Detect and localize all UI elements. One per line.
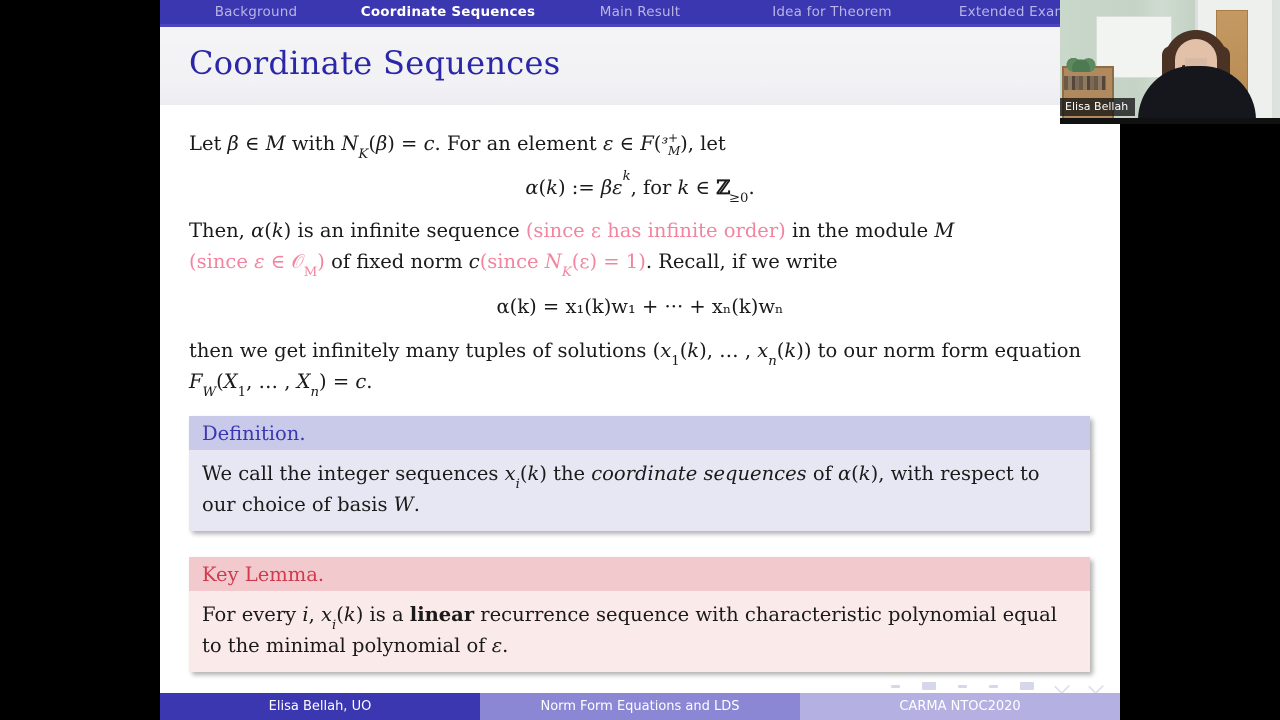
math-x-n: x — [757, 339, 768, 362]
math-W: W — [394, 493, 414, 516]
forward-arrow-glyph[interactable] — [1088, 678, 1104, 694]
p3-t8: ) = — [319, 370, 355, 393]
math-x-1: x — [660, 339, 671, 362]
math-beta-2: β — [376, 132, 387, 155]
math-X-n: X — [297, 370, 311, 393]
math-geq-zero: ≥0 — [729, 191, 749, 206]
math-F-2: F — [189, 370, 203, 393]
key-lemma-block: Key Lemma. For every i, xi(k) is a linea… — [189, 557, 1090, 672]
math-sub-n2: n — [310, 385, 319, 400]
presentation-slide: Background Coordinate Sequences Main Res… — [160, 0, 1120, 720]
math-k-3: k — [272, 219, 284, 242]
lem-t4: ) is a — [356, 603, 410, 626]
eq1-p5: . — [748, 176, 754, 199]
math-k-2: k — [678, 176, 690, 199]
nav-tab-main-result[interactable]: Main Result — [544, 4, 736, 20]
math-c: c — [424, 132, 435, 155]
footer-venue: CARMA NTOC2020 — [800, 693, 1120, 720]
text-eq-c: ) = — [387, 132, 423, 155]
next-section-glyph[interactable] — [989, 685, 998, 688]
paragraph-tuples: then we get infinitely many tuples of so… — [160, 335, 1120, 397]
math-K-sub-2: K — [562, 265, 572, 280]
math-epsilon-4: ε — [492, 634, 502, 657]
eq1-p4: ∈ — [689, 176, 716, 199]
slide-footer: Elisa Bellah, UO Norm Form Equations and… — [160, 693, 1120, 720]
p3-t6: ( — [216, 370, 224, 393]
text-for-element: . For an element — [434, 132, 602, 155]
math-alpha-1: α — [525, 176, 538, 199]
p3-t9: . — [366, 370, 372, 393]
math-W-sub: W — [203, 385, 217, 400]
nav-tab-idea-for-theorem[interactable]: Idea for Theorem — [736, 4, 928, 20]
math-O-subscript-M: M — [304, 265, 318, 280]
paragraph-infinite-sequence: Then, α(k) is an infinite sequence (sinc… — [160, 215, 1120, 277]
beamer-section-navbar: Background Coordinate Sequences Main Res… — [160, 0, 1120, 24]
annotation-norm-one-open: (since — [480, 250, 545, 273]
text-with: with — [286, 132, 342, 155]
math-alpha-3: α — [838, 462, 851, 485]
math-epsilon: ε — [603, 132, 613, 155]
torso-sweater — [1138, 66, 1256, 124]
equation2-text: α(k) = x₁(k)w₁ + ··· + xₙ(k)wₙ — [497, 295, 784, 318]
emphasis-coordinate-sequences: coordinate sequences — [591, 462, 806, 485]
key-lemma-block-body: For every i, xi(k) is a linear recurrenc… — [189, 591, 1090, 672]
equation-alpha-expansion: α(k) = x₁(k)w₁ + ··· + xₙ(k)wₙ — [160, 291, 1120, 322]
math-k-exponent: k — [623, 169, 631, 184]
back-arrow-glyph[interactable] — [1054, 678, 1070, 694]
eq1-p3: , for — [631, 176, 678, 199]
math-F: F — [640, 132, 654, 155]
annotation-norm-one-rest: (ε) = 1) — [572, 250, 646, 273]
math-N: N — [341, 132, 358, 155]
text-in-1: ∈ — [239, 132, 266, 155]
footer-author: Elisa Bellah, UO — [160, 693, 480, 720]
math-beta: β — [228, 132, 239, 155]
emphasis-linear: linear — [410, 603, 474, 626]
definition-block-body: We call the integer sequences xi(k) the … — [189, 450, 1090, 531]
plant-object — [1066, 54, 1096, 72]
math-sub-i-2: i — [332, 618, 336, 633]
math-M-2: M — [934, 219, 954, 242]
webcam-bottom-band — [1060, 118, 1280, 124]
math-beta-3: β — [601, 176, 612, 199]
math-M-sub: M — [668, 136, 680, 167]
math-script-O: 𝒪 — [291, 250, 303, 273]
lem-t3: ( — [336, 603, 344, 626]
def-t7: . — [414, 493, 420, 516]
math-sub-1: 1 — [671, 354, 679, 369]
text-in-2: ∈ — [613, 132, 640, 155]
math-x-i: x — [505, 462, 516, 485]
math-x-i-2: x — [321, 603, 332, 626]
math-k-1: k — [546, 176, 558, 199]
lem-t1: For every — [202, 603, 302, 626]
p3-t5: )) to our norm form equation — [796, 339, 1081, 362]
annotation-in-symbol: ∈ — [265, 250, 292, 273]
slide-body: Let β ∈ M with NK(β) = c. For an element… — [160, 105, 1120, 672]
p3-t7: , … , — [246, 370, 297, 393]
paragraph-setup: Let β ∈ M with NK(β) = c. For an element… — [160, 128, 1120, 159]
speaker-figure — [1138, 30, 1256, 124]
eq1-p2: ) := — [558, 176, 601, 199]
math-c-3: c — [355, 370, 366, 393]
annotation-infinite-order: (since ε has infinite order) — [526, 219, 786, 242]
lem-t2: , — [309, 603, 321, 626]
p2-t5: of fixed norm — [325, 250, 469, 273]
text-paren-1: ( — [368, 132, 376, 155]
math-k-8: k — [344, 603, 356, 626]
annotation-eps-in-O-open: (since — [189, 250, 254, 273]
next-slide-glyph[interactable] — [922, 682, 936, 690]
def-t5: ( — [851, 462, 859, 485]
books-object — [1064, 76, 1106, 90]
math-M: M — [266, 132, 286, 155]
p2-t6: . Recall, if we write — [646, 250, 838, 273]
prev-slide-glyph[interactable] — [891, 685, 900, 688]
annotation-close-paren: ) — [317, 250, 325, 273]
nav-tab-coordinate-sequences[interactable]: Coordinate Sequences — [352, 4, 544, 20]
def-t4: of — [807, 462, 838, 485]
def-t1: We call the integer sequences — [202, 462, 505, 485]
math-alpha-2: α — [251, 219, 264, 242]
p2-t3: ) is an infinite sequence — [284, 219, 526, 242]
prev-section-glyph[interactable] — [958, 685, 967, 688]
text-let-end: ), let — [680, 132, 726, 155]
math-sub-i: i — [516, 477, 520, 492]
def-t3: ) the — [539, 462, 591, 485]
math-epsilon-2: ε — [612, 176, 622, 199]
p3-t3: ), … , — [699, 339, 757, 362]
webcam-name-label: Elisa Bellah — [1060, 98, 1135, 116]
math-K-sub: K — [358, 147, 368, 162]
page-title: Coordinate Sequences — [189, 44, 560, 82]
definition-block: Definition. We call the integer sequence… — [189, 416, 1090, 531]
equation-alpha-def: α(k) := βεk, for k ∈ ℤ≥0. — [160, 172, 1120, 203]
eq1-p1: ( — [539, 176, 547, 199]
math-sub-1b: 1 — [238, 385, 246, 400]
math-sub-n: n — [768, 354, 777, 369]
footer-talk-title: Norm Form Equations and LDS — [480, 693, 800, 720]
math-k-7: k — [859, 462, 871, 485]
math-X-1: X — [224, 370, 238, 393]
screen: Background Coordinate Sequences Main Res… — [0, 0, 1280, 720]
webcam-video-tile[interactable]: Elisa Bellah — [1060, 0, 1280, 124]
math-blackboard-Z: ℤ — [716, 176, 729, 199]
math-c-2: c — [469, 250, 480, 273]
p2-t1: Then, — [189, 219, 251, 242]
text-let: Let — [189, 132, 228, 155]
p2-t2: ( — [264, 219, 272, 242]
p2-t4: in the module — [786, 219, 935, 242]
beamer-navigation-symbols[interactable] — [160, 679, 1120, 693]
math-k-5: k — [784, 339, 796, 362]
beamer-glyph[interactable] — [1020, 682, 1034, 690]
definition-block-header: Definition. — [189, 416, 1090, 450]
math-k-4: k — [687, 339, 699, 362]
math-epsilon-3: ε — [254, 250, 264, 273]
math-k-6: k — [527, 462, 539, 485]
p3-t1: then we get infinitely many tuples of so… — [189, 339, 660, 362]
key-lemma-block-header: Key Lemma. — [189, 557, 1090, 591]
nav-tab-background[interactable]: Background — [160, 4, 352, 20]
lem-t6: . — [502, 634, 508, 657]
math-U-supsub: +M — [668, 131, 680, 151]
math-N-2: N — [545, 250, 562, 273]
